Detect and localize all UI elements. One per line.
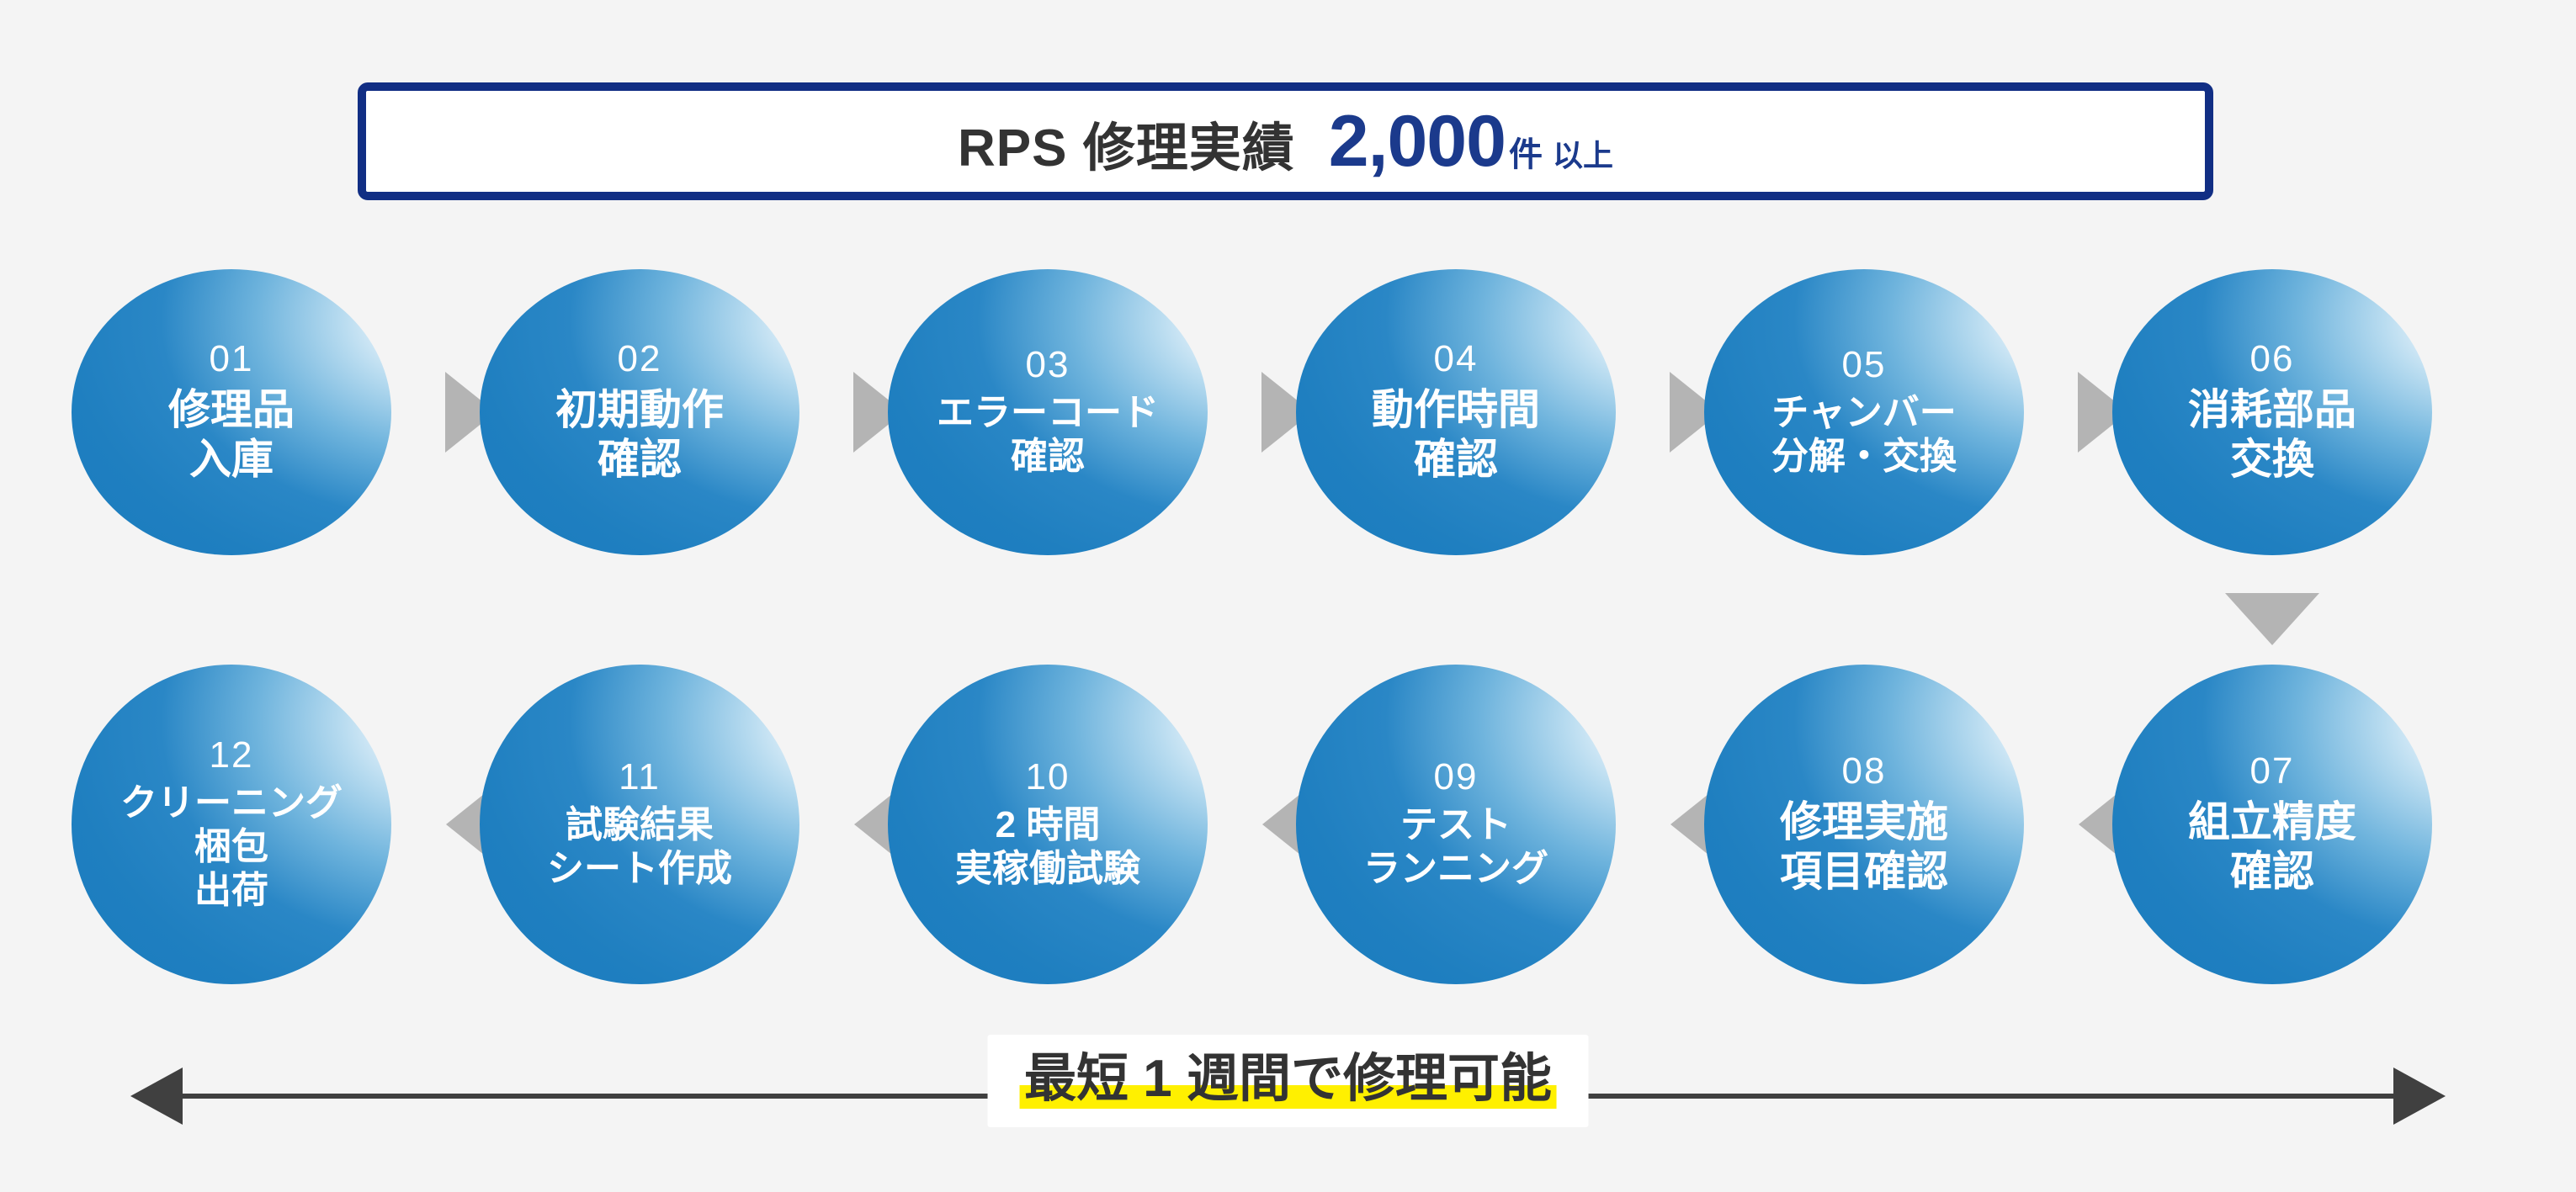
flow-node-01[interactable]: 01 修理品 入庫 bbox=[72, 269, 391, 555]
duration-label-wrap: 最短 1 週間で修理可能 bbox=[1024, 1053, 1552, 1105]
flow-node-number: 05 bbox=[1842, 346, 1887, 384]
flow-node-label: 2 時間 実稼働試験 bbox=[955, 803, 1140, 891]
flow-node-04[interactable]: 04 動作時間 確認 bbox=[1296, 269, 1616, 555]
flow-row-bottom: 12 クリーニング 梱包 出荷 11 試験結果 シート作成 10 2 時間 実稼… bbox=[0, 665, 2576, 984]
duration-bar: 最短 1 週間で修理可能 bbox=[0, 1056, 2576, 1157]
header-unit: 件 bbox=[1509, 127, 1543, 176]
arrow-left-icon bbox=[130, 1068, 183, 1125]
flow-node-09[interactable]: 09 テスト ランニング bbox=[1296, 665, 1616, 984]
flow-node-label: 組立精度 確認 bbox=[2188, 797, 2356, 897]
flow-node-05[interactable]: 05 チャンバー 分解・交換 bbox=[1704, 269, 2024, 555]
flow-node-07[interactable]: 07 組立精度 確認 bbox=[2112, 665, 2432, 984]
flow-row-top: 01 修理品 入庫 02 初期動作 確認 03 エラーコード 確認 04 動作時… bbox=[0, 269, 2576, 555]
flow-node-number: 04 bbox=[1434, 340, 1479, 379]
header-banner: RPS 修理実績 2,000 件 以上 bbox=[358, 82, 2213, 200]
flow-node-10[interactable]: 10 2 時間 実稼働試験 bbox=[888, 665, 1208, 984]
flow-node-number: 08 bbox=[1842, 752, 1887, 791]
flow-node-03[interactable]: 03 エラーコード 確認 bbox=[888, 269, 1208, 555]
flow-node-label: テスト ランニング bbox=[1363, 803, 1548, 891]
flow-node-06[interactable]: 06 消耗部品 交換 bbox=[2112, 269, 2432, 555]
flow-node-number: 12 bbox=[210, 736, 254, 775]
flow-node-number: 02 bbox=[618, 340, 662, 379]
arrow-right-icon bbox=[2393, 1068, 2446, 1125]
flow-node-label: クリーニング 梱包 出荷 bbox=[120, 781, 343, 913]
flow-node-label: 消耗部品 交換 bbox=[2188, 385, 2356, 485]
duration-label: 最短 1 週間で修理可能 bbox=[1024, 1050, 1552, 1108]
flow-node-02[interactable]: 02 初期動作 確認 bbox=[480, 269, 799, 555]
flow-node-11[interactable]: 11 試験結果 シート作成 bbox=[480, 665, 799, 984]
flow-node-label: 動作時間 確認 bbox=[1372, 385, 1540, 485]
flow-node-number: 10 bbox=[1026, 758, 1070, 797]
flow-node-label: 初期動作 確認 bbox=[555, 385, 724, 485]
flow-node-number: 01 bbox=[210, 340, 254, 379]
flow-node-number: 11 bbox=[619, 758, 661, 797]
flow-node-number: 03 bbox=[1026, 346, 1070, 384]
header-title: RPS 修理実績 bbox=[958, 105, 1295, 181]
header-content: RPS 修理実績 2,000 件 以上 bbox=[958, 100, 1613, 183]
flow-node-number: 09 bbox=[1434, 758, 1479, 797]
flow-node-label: 試験結果 シート作成 bbox=[547, 803, 732, 891]
header-suffix: 以上 bbox=[1553, 131, 1613, 175]
flow-node-08[interactable]: 08 修理実施 項目確認 bbox=[1704, 665, 2024, 984]
flow-arrow-down-icon bbox=[2225, 593, 2319, 645]
header-count: 2,000 bbox=[1329, 100, 1506, 183]
duration-label-box: 最短 1 週間で修理可能 bbox=[987, 1035, 1589, 1127]
flow-node-number: 06 bbox=[2250, 340, 2295, 379]
flow-node-number: 07 bbox=[2250, 752, 2295, 791]
flow-node-label: 修理実施 項目確認 bbox=[1780, 797, 1948, 897]
flow-node-label: 修理品 入庫 bbox=[168, 385, 295, 485]
flow-node-12[interactable]: 12 クリーニング 梱包 出荷 bbox=[72, 665, 391, 984]
flow-node-label: チャンバー 分解・交換 bbox=[1771, 391, 1957, 479]
flow-node-label: エラーコード 確認 bbox=[937, 391, 1159, 479]
